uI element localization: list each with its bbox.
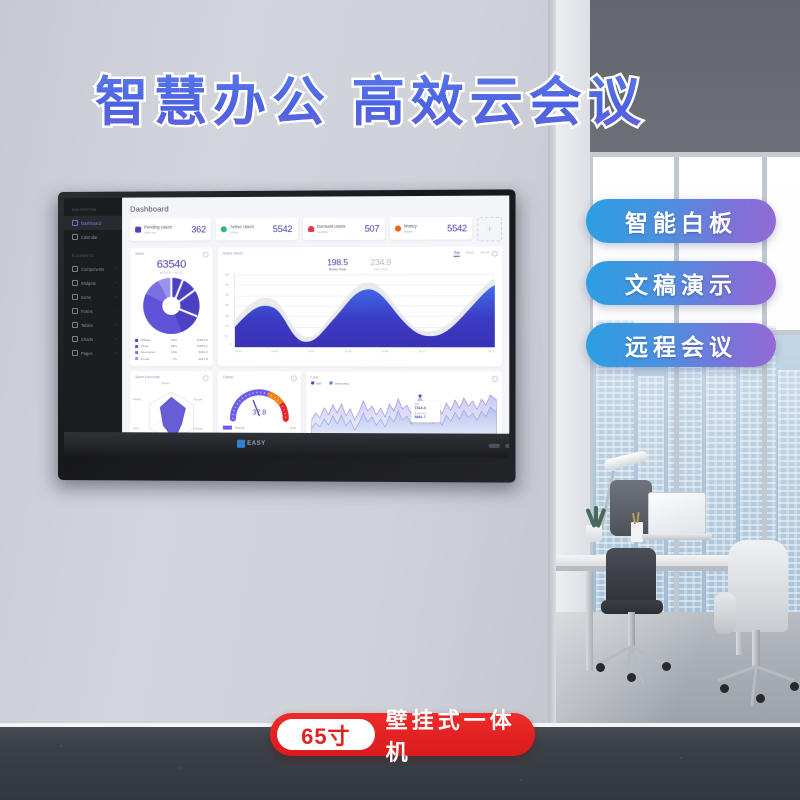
card-title: Line <box>311 375 497 379</box>
flow-total-label: Flow Total <box>370 267 391 271</box>
feature-badge-whiteboard[interactable]: 智能白板 <box>586 199 776 243</box>
stat-label: Active Users <box>230 224 254 229</box>
chevron-right-icon: › <box>115 281 116 285</box>
logo-text: EASY <box>247 441 266 447</box>
tab-month[interactable]: Month <box>481 251 490 257</box>
radar-axis-label: Soccer <box>194 397 203 401</box>
radar-axis-label: Hobby <box>133 397 141 401</box>
legend-percent: 13% <box>163 350 177 354</box>
sidebar-item-forms[interactable]: Forms › <box>64 304 122 318</box>
dashboard-page-title: Dashboard <box>130 203 502 214</box>
tab-day[interactable]: Day <box>454 251 460 257</box>
legend-swatch <box>135 339 138 342</box>
radar-axis-label: Hockey <box>194 426 203 430</box>
area-chart-svg <box>235 274 495 347</box>
tab-week[interactable]: Week <box>466 251 474 257</box>
legend-row: Direct 38% 22875.3 <box>135 344 208 348</box>
hdmi-port[interactable] <box>505 444 509 448</box>
sidebar-item-label: Pages <box>81 351 93 356</box>
sales-subtitle: MORE INFO <box>135 271 208 275</box>
add-card-button[interactable]: + <box>477 217 502 242</box>
legend-percent: 44% <box>163 338 177 342</box>
legend-swatch <box>135 345 138 348</box>
size-badge-type: 壁挂式一体机 <box>386 703 535 767</box>
legend-value: 4447.8 <box>198 357 207 361</box>
stat-value: 5542 <box>447 223 467 233</box>
sidebar-item-widgets[interactable]: Widgets › <box>64 276 122 290</box>
form-icon <box>72 308 78 314</box>
radar-axis-label: Tennis <box>161 381 169 385</box>
sidebar-item-label: Icons <box>81 294 91 299</box>
legend-label: E-mail <box>141 357 163 361</box>
legend-row: E-mail 7% 4447.8 <box>135 357 208 361</box>
legend-swatch <box>135 357 138 360</box>
stat-card-pending-users[interactable]: Pending Users more info 362 <box>130 218 211 240</box>
card-title: Clarks <box>223 375 296 379</box>
sales-total: 63540 <box>135 259 208 271</box>
sales-donut-card: Sales 63540 MORE INFO <box>130 247 213 366</box>
line-chart-legend: Ball Swimming <box>311 381 497 385</box>
calendar-icon <box>72 234 78 240</box>
pen-cup <box>631 522 643 542</box>
chevron-right-icon: › <box>115 351 116 355</box>
donut-chart <box>143 278 199 334</box>
stat-label: Pending Users <box>144 224 172 229</box>
size-badge-value: 65寸 <box>277 719 375 750</box>
butler-total-label: Butler Total <box>327 267 348 271</box>
white-chair-backrest <box>728 540 788 632</box>
tooltip-value: 5881.7 <box>414 415 437 419</box>
page-title: 智慧办公 高效云会议 <box>95 68 715 138</box>
device-bezel: NAVIGATION Dashboard Calendar ELEMENTS C… <box>58 189 516 482</box>
chart-tooltip: Ball 7314.4 Swimming 5881.7 <box>411 401 440 422</box>
chevron-right-icon: › <box>115 309 116 313</box>
chevron-right-icon: › <box>115 323 116 327</box>
legend-percent: 7% <box>163 357 177 361</box>
sidebar-item-label: Dashboard <box>81 220 101 225</box>
stat-card-active-users[interactable]: Active Users online 5542 <box>216 218 297 241</box>
legend-label: Normal <box>235 426 244 430</box>
gear-icon[interactable] <box>203 375 209 381</box>
sidebar-item-charts[interactable]: Charts › <box>64 332 122 346</box>
card-title: Sales <box>135 251 208 255</box>
stat-value: 362 <box>191 224 206 234</box>
chevron-right-icon: › <box>115 295 116 299</box>
pending-users-icon <box>135 227 141 233</box>
gear-icon[interactable] <box>203 251 209 257</box>
legend-value: 22875.3 <box>197 344 208 348</box>
chart-range-tabs: Day Week Month <box>454 251 490 257</box>
money-icon <box>395 226 401 232</box>
flow-total-value: 234.9 <box>370 257 391 267</box>
brand-logo: EASY <box>237 440 266 448</box>
feature-badge-remote-meeting[interactable]: 远程会议 <box>586 323 776 367</box>
white-chair-gas-lift <box>752 630 760 666</box>
stat-value: 5542 <box>273 224 293 234</box>
logo-mark-icon <box>237 440 245 448</box>
sidebar-item-label: Tables <box>81 322 93 327</box>
chart-totals: 198.5 Butler Total 234.9 Flow Total <box>223 257 497 272</box>
laptop-screen <box>648 492 706 536</box>
butler-total-area <box>235 285 495 347</box>
legend-row: Affiliate 44% 27857.8 <box>135 338 208 342</box>
chevron-right-icon: › <box>115 267 116 271</box>
sidebar-item-label: Components <box>81 266 104 271</box>
sidebar-item-label: Charts <box>81 337 93 342</box>
stat-sublabel: online <box>230 230 238 234</box>
legend-swatch <box>223 426 232 430</box>
legend-label: Ball <box>316 381 321 385</box>
chair-gas-lift <box>628 612 635 646</box>
chevron-right-icon: › <box>115 337 116 341</box>
sidebar: NAVIGATION Dashboard Calendar ELEMENTS C… <box>64 198 122 457</box>
legend-swatch <box>311 381 314 384</box>
chart-icon <box>72 336 78 342</box>
stat-sublabel: undefine <box>317 230 328 234</box>
feature-badge-presentation[interactable]: 文稿演示 <box>586 261 776 305</box>
laptop-base <box>642 534 712 540</box>
legend-label: Swimming <box>335 381 349 385</box>
stat-value: 507 <box>365 224 380 234</box>
legend-range: 0-70 <box>290 426 296 430</box>
chart-row-primary: Sales 63540 MORE INFO <box>130 246 502 366</box>
widget-icon <box>72 280 78 286</box>
legend-row: Normal 0-70 <box>223 426 296 430</box>
legend-label: Direct <box>141 344 163 348</box>
active-users-icon <box>221 226 227 232</box>
sidebar-item-calendar[interactable]: Calendar <box>64 230 122 244</box>
table-icon <box>72 322 78 328</box>
gear-icon[interactable] <box>291 375 297 381</box>
size-badge: 65寸 壁挂式一体机 <box>270 713 535 756</box>
sidebar-item-tables[interactable]: Tables › <box>64 318 122 332</box>
sidebar-section-navigation: NAVIGATION <box>64 204 122 216</box>
sidebar-item-label: Widgets <box>81 280 96 285</box>
stat-label: Money <box>404 223 417 228</box>
sidebar-item-icons[interactable]: Icons › <box>64 290 122 304</box>
legend-entry-swimming: Swimming <box>330 381 349 385</box>
legend-label: Sponsored <box>141 350 163 354</box>
stat-card-dormant-users[interactable]: Dormant Users undefine 507 <box>302 217 384 240</box>
sidebar-section-elements: ELEMENTS <box>64 250 122 262</box>
area-chart-plot: 350 300 250 200 150 100 50 0 <box>234 274 495 348</box>
tooltip-value: 7314.4 <box>414 406 437 410</box>
page-icon <box>72 350 78 356</box>
gear-icon[interactable] <box>492 251 498 257</box>
device-screen[interactable]: NAVIGATION Dashboard Calendar ELEMENTS C… <box>64 196 509 459</box>
stat-sublabel: more info <box>144 230 156 234</box>
legend-row: Sponsored 13% 8260.2 <box>135 350 208 354</box>
stat-card-row: Pending Users more info 362 Active Users… <box>130 217 502 243</box>
active-users-chart-card: Active Users Day Week Month 198.5 Butle <box>218 246 502 366</box>
card-title: Sport Favourite <box>135 375 208 379</box>
grid-icon <box>72 266 78 272</box>
stat-card-money[interactable]: Money dollars 5542 <box>390 217 473 240</box>
legend-swatch <box>135 351 138 354</box>
sidebar-item-components[interactable]: Components › <box>64 262 122 276</box>
white-chair-arm <box>714 592 736 634</box>
stat-sublabel: dollars <box>404 229 413 233</box>
ball-highlight-point <box>419 394 422 397</box>
device-chin: EASY <box>64 432 509 458</box>
legend-entry-ball: Ball <box>311 381 321 385</box>
legend-value: 27857.8 <box>197 338 208 342</box>
dashboard-app: NAVIGATION Dashboard Calendar ELEMENTS C… <box>64 196 509 459</box>
legend-percent: 38% <box>163 344 177 348</box>
sidebar-item-dashboard[interactable]: Dashboard <box>64 216 122 230</box>
heart-icon <box>308 226 314 232</box>
usb-port[interactable] <box>489 444 500 448</box>
gauge-value: 37.8 <box>228 409 291 416</box>
legend-label: Affiliate <box>141 338 163 342</box>
gauge-chart: 37.8 <box>228 385 291 419</box>
gear-icon[interactable] <box>492 376 498 382</box>
star-icon <box>72 294 78 300</box>
radar-axis-label: Golf <box>133 426 138 430</box>
chair-backrest <box>606 548 656 604</box>
interactive-display-device: NAVIGATION Dashboard Calendar ELEMENTS C… <box>58 189 516 482</box>
legend-swatch <box>330 381 333 384</box>
stat-label: Dormant Users <box>317 223 346 228</box>
dashboard-main: Dashboard Pending Users more info 362 <box>122 196 509 459</box>
sidebar-item-label: Forms <box>81 308 93 313</box>
sidebar-item-label: Calendar <box>81 234 98 239</box>
home-icon <box>72 220 78 226</box>
sidebar-item-pages[interactable]: Pages › <box>64 346 122 360</box>
butler-total-value: 198.5 <box>327 257 348 267</box>
legend-value: 8260.2 <box>198 350 207 354</box>
